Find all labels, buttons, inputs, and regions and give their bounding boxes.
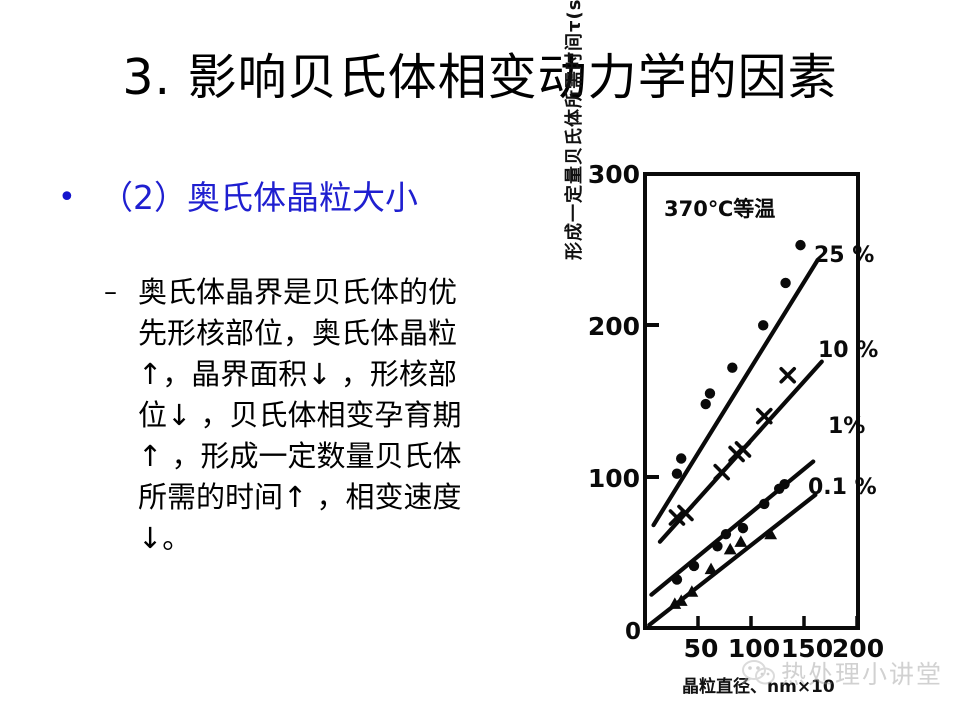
page-title: 3. 影响贝氏体相变动力学的因素 <box>0 52 960 105</box>
bullet-level2-paragraph: 奥氏体晶界是贝氏体的优先形核部位，奥氏体晶粒↑，晶界面积↓ ，形核部位↓ ，贝氏… <box>138 272 468 559</box>
data-point-marker <box>701 399 711 409</box>
data-point-marker <box>672 468 682 478</box>
data-point-marker <box>759 499 769 509</box>
data-point-marker <box>779 479 789 489</box>
x-tick-label: 50 <box>684 634 719 663</box>
data-point-marker <box>712 541 722 551</box>
data-point-marker <box>672 574 682 584</box>
y-tick-labels: 300 200 100 0 <box>588 160 641 645</box>
data-point-marker <box>780 278 790 288</box>
data-point-marker <box>727 363 737 373</box>
bullet-level2: – 奥氏体晶界是贝氏体的优先形核部位，奥氏体晶粒↑，晶界面积↓ ，形核部位↓ ，… <box>104 272 504 559</box>
bullet-level1-label: （2）奥氏体晶粒大小 <box>100 176 418 220</box>
chart-annotation: 370℃等温 <box>664 197 775 221</box>
x-tick-labels: 50 100 150 200 <box>684 634 884 663</box>
data-point-marker <box>689 561 699 571</box>
grain-size-incubation-chart: 25 %10 %1%0.1 % 300 200 100 0 50 100 150… <box>560 150 960 720</box>
bullet-dash-icon: – <box>104 272 138 313</box>
y-tick-label: 300 <box>588 160 640 189</box>
bullet-dot-icon: • <box>52 176 100 220</box>
y-tick-label: 0 <box>625 619 641 645</box>
series-label: 25 % <box>814 243 874 268</box>
bullet-level1: • （2）奥氏体晶粒大小 <box>52 176 522 220</box>
series-label: 1% <box>828 414 865 439</box>
data-point-marker <box>738 523 748 533</box>
x-axis-title: 晶粒直径、nm×10 <box>682 672 835 697</box>
chart-figure: 25 %10 %1%0.1 % 300 200 100 0 50 100 150… <box>560 150 960 720</box>
data-point-marker <box>758 320 768 330</box>
y-axis-title: 形成一定量贝氏体所需时间τ(s) <box>560 0 588 260</box>
series-label: 0.1 % <box>808 475 877 500</box>
y-tick-label: 100 <box>588 464 640 493</box>
x-tick-label: 150 <box>781 634 833 663</box>
y-tick-label: 200 <box>588 312 640 341</box>
data-point-marker <box>721 529 731 539</box>
x-tick-label: 200 <box>832 634 884 663</box>
data-point-marker <box>676 453 686 463</box>
data-point-marker <box>795 240 805 250</box>
data-point-marker <box>705 388 715 398</box>
x-tick-label: 100 <box>728 634 780 663</box>
series-label: 10 % <box>818 338 878 363</box>
